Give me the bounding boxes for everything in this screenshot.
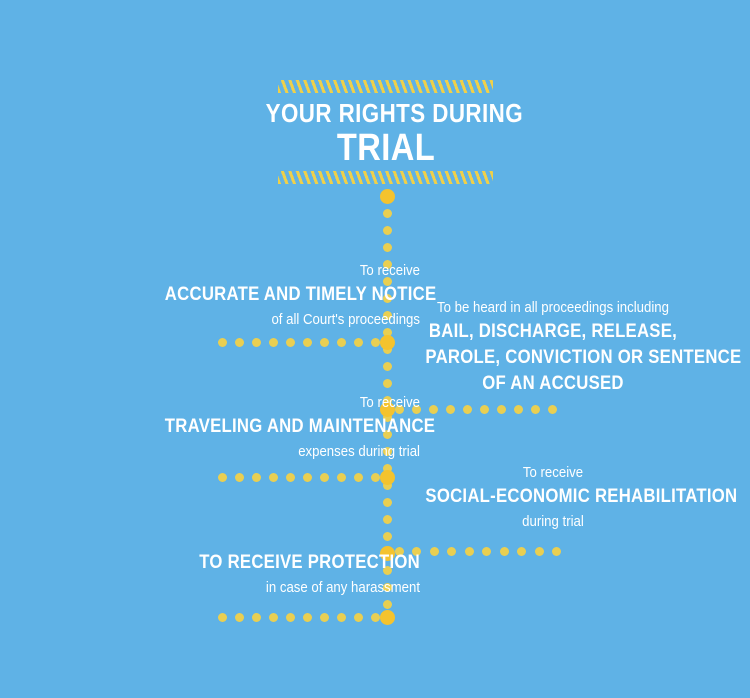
branch-dot (269, 338, 278, 347)
title-line-1: YOUR RIGHTS DURING (266, 98, 507, 128)
branch-dot (517, 547, 526, 556)
title-line-2: TRIAL (266, 128, 507, 168)
item-subtext: To receive (165, 391, 420, 414)
item-subtext: To be heard in all proceedings including (425, 296, 680, 319)
timeline-junction-dot (380, 470, 395, 485)
branch-dot (303, 613, 312, 622)
branch-dot (482, 547, 491, 556)
branch-dot (337, 473, 346, 482)
branch-dot (446, 405, 455, 414)
branch-dot (218, 338, 227, 347)
branch-dot (252, 473, 261, 482)
branch-dot (235, 338, 244, 347)
branch-dot (286, 473, 295, 482)
branch-dot (269, 613, 278, 622)
branch-dot (303, 473, 312, 482)
timeline-dot (383, 226, 392, 235)
branch-dot (252, 338, 261, 347)
item-headline: PAROLE, CONVICTION OR SENTENCE (425, 345, 680, 371)
branch-dot (465, 547, 474, 556)
timeline-dot (383, 379, 392, 388)
timeline-dot (383, 362, 392, 371)
right-item-5: TO RECEIVE PROTECTIONin case of any hara… (130, 550, 420, 599)
right-item-4: To receiveSOCIAL-ECONOMIC REHABILITATION… (408, 461, 698, 533)
hatch-band-top (278, 80, 493, 93)
timeline-dot (383, 515, 392, 524)
timeline-dot (383, 209, 392, 218)
branch-dot (371, 473, 380, 482)
branch-dot (430, 547, 439, 556)
item-subtext: of all Court's proceedings (165, 308, 420, 331)
branch-dot (497, 405, 506, 414)
timeline-junction-dot (380, 189, 395, 204)
timeline-dot (383, 532, 392, 541)
branch-dot (235, 473, 244, 482)
timeline-dot (383, 498, 392, 507)
item-subtext: To receive (165, 259, 420, 282)
branch-dot (371, 338, 380, 347)
timeline-junction-dot (380, 335, 395, 350)
item-subtext: To receive (425, 461, 680, 484)
branch-dot (514, 405, 523, 414)
branch-dot (235, 613, 244, 622)
branch-dot (337, 338, 346, 347)
branch-dot (535, 547, 544, 556)
right-item-3: To receiveTRAVELING AND MAINTENANCEexpen… (130, 391, 420, 463)
branch-dot (269, 473, 278, 482)
item-headline: BAIL, DISCHARGE, RELEASE, (425, 319, 680, 345)
branch-dot (252, 613, 261, 622)
hatch-band-bottom (278, 171, 493, 184)
branch-dot (371, 613, 380, 622)
item-headline: OF AN ACCUSED (425, 371, 680, 397)
branch-dot (354, 338, 363, 347)
branch-dot (548, 405, 557, 414)
branch-dot (303, 338, 312, 347)
infographic-canvas: YOUR RIGHTS DURING TRIAL To receiveACCUR… (0, 0, 750, 698)
branch-dot (337, 613, 346, 622)
branch-dot (218, 613, 227, 622)
right-item-1: To receiveACCURATE AND TIMELY NOTICEof a… (130, 259, 420, 331)
branch-dot (552, 547, 561, 556)
branch-dot (531, 405, 540, 414)
timeline-dot (383, 243, 392, 252)
branch-dot (354, 473, 363, 482)
branch-dot (286, 338, 295, 347)
item-headline: ACCURATE AND TIMELY NOTICE (165, 282, 420, 308)
branch-dot (320, 473, 329, 482)
branch-dot (320, 338, 329, 347)
branch-dot (429, 405, 438, 414)
timeline-junction-dot (380, 610, 395, 625)
item-headline: SOCIAL-ECONOMIC REHABILITATION (425, 484, 680, 510)
branch-dot (320, 613, 329, 622)
item-headline: TRAVELING AND MAINTENANCE (165, 414, 420, 440)
branch-dot (218, 473, 227, 482)
item-subtext: in case of any harassment (165, 576, 420, 599)
item-headline: TO RECEIVE PROTECTION (165, 550, 420, 576)
branch-dot (500, 547, 509, 556)
branch-dot (463, 405, 472, 414)
item-subtext: expenses during trial (165, 440, 420, 463)
branch-dot (354, 613, 363, 622)
branch-dot (480, 405, 489, 414)
item-subtext: during trial (425, 510, 680, 533)
branch-dot (447, 547, 456, 556)
branch-dot (286, 613, 295, 622)
timeline-dot (383, 600, 392, 609)
page-title: YOUR RIGHTS DURING TRIAL (246, 98, 526, 168)
right-item-2: To be heard in all proceedings including… (408, 296, 698, 397)
